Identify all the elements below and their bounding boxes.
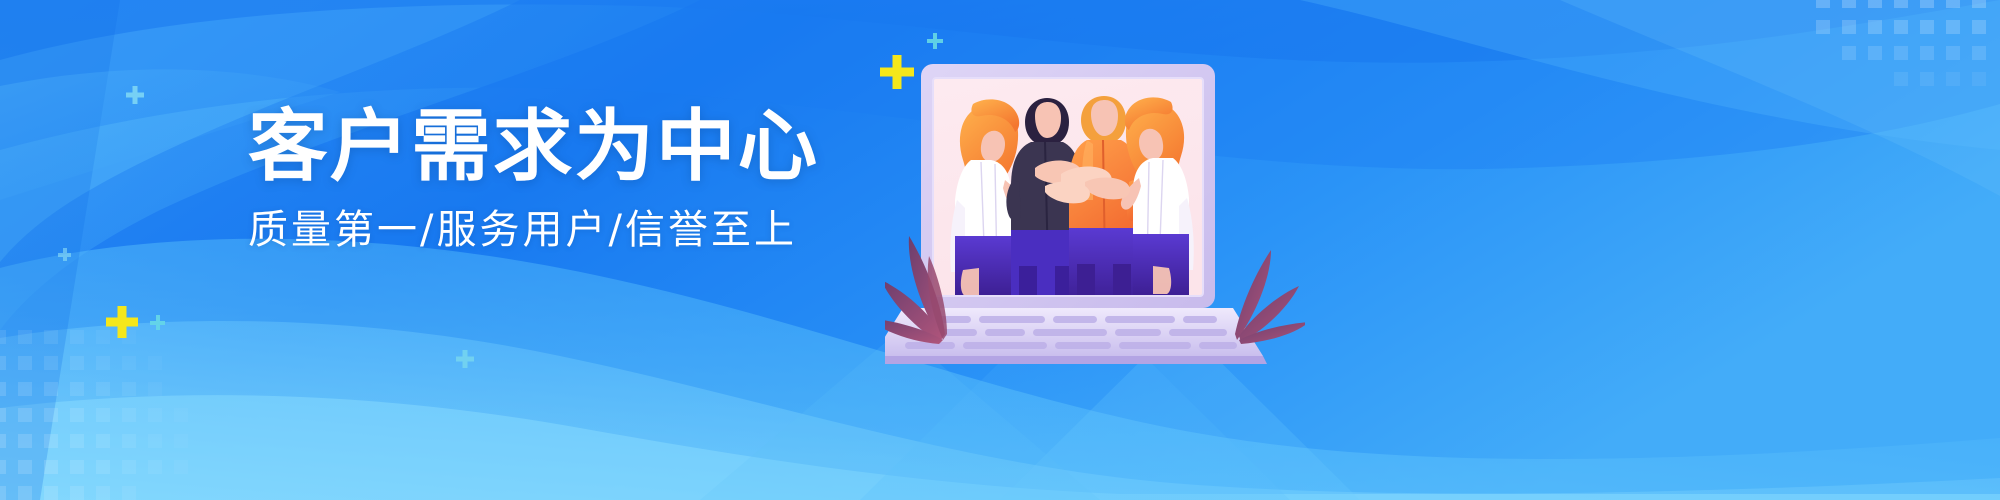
laptop-base-edge [885,356,1267,364]
decorative-fronds-right [1235,250,1305,344]
headline: 客户需求为中心 [248,108,880,186]
laptop-illustration [885,40,1305,370]
marketing-banner: 客户需求为中心 质量第一/服务用户/信誉至上 [0,0,2000,500]
sparkle-yellow-large-bottom [106,306,138,338]
copy-block: 客户需求为中心 质量第一/服务用户/信誉至上 [248,108,868,250]
grid-pattern-top-right [1816,0,2000,114]
sparkle-teal-mid-lower [456,350,474,368]
sparkle-teal-left-low [58,248,71,261]
subheadline: 质量第一/服务用户/信誉至上 [248,210,868,250]
sparkle-teal-left-upper [126,86,144,104]
grid-pattern-bottom-left [0,330,252,500]
sparkle-teal-small-bottom [150,315,165,330]
